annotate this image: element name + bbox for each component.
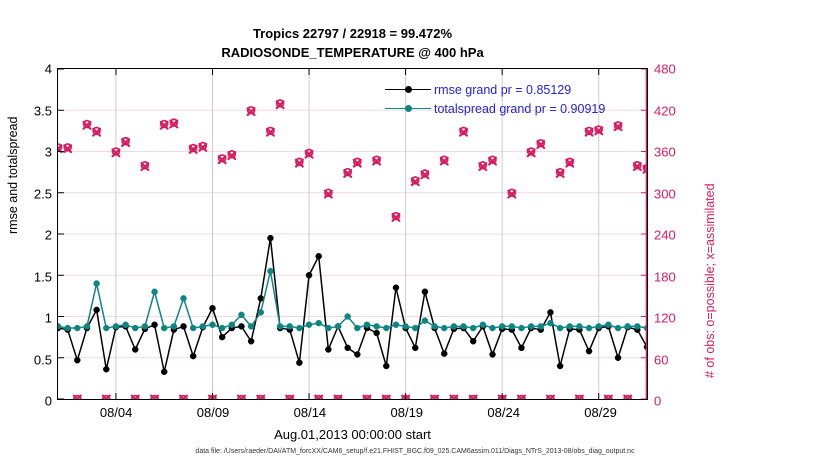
y-axis-right-tick: 480: [654, 62, 676, 77]
y-axis-left-tick: 3: [45, 145, 52, 160]
y-axis-right-tick: 60: [654, 352, 668, 367]
chart-legend: rmse grand pr = 0.85129 totalspread gran…: [385, 80, 605, 118]
x-axis-tick: 08/09: [197, 405, 230, 420]
plot-canvas: [58, 69, 647, 399]
x-axis-tick: 08/29: [584, 405, 617, 420]
y-axis-left-tick: 0.5: [34, 352, 52, 367]
y-axis-right-tick: 360: [654, 145, 676, 160]
y-axis-right-label: # of obs: o=possible; x=assimilated: [703, 183, 717, 378]
legend-label-totalspread: totalspread grand pr = 0.90919: [434, 102, 605, 116]
x-axis-tick: 08/14: [294, 405, 327, 420]
y-axis-right-tick: 0: [654, 394, 661, 409]
y-axis-right-tick: 180: [654, 269, 676, 284]
y-axis-left-tick: 4: [45, 62, 52, 77]
y-axis-left-tick: 3.5: [34, 103, 52, 118]
y-axis-right-tick: 120: [654, 311, 676, 326]
y-axis-right-tick: 420: [654, 103, 676, 118]
figure-root: Tropics 22797 / 22918 = 99.472% RADIOSON…: [0, 0, 830, 470]
legend-item-rmse: rmse grand pr = 0.85129: [385, 80, 605, 99]
legend-label-rmse: rmse grand pr = 0.85129: [434, 83, 571, 97]
chart-title-line-1: Tropics 22797 / 22918 = 99.472%: [57, 24, 648, 43]
x-axis-tick: 08/19: [391, 405, 424, 420]
x-axis-label: Aug.01,2013 00:00:00 start: [57, 427, 648, 442]
x-axis-tick: 08/24: [487, 405, 520, 420]
y-axis-left-label: rmse and totalspread: [6, 117, 20, 234]
legend-swatch-rmse-icon: [385, 84, 431, 96]
legend-item-totalspread: totalspread grand pr = 0.90919: [385, 99, 605, 118]
y-axis-right-tick: 240: [654, 228, 676, 243]
y-axis-left-tick: 2.5: [34, 186, 52, 201]
data-file-note: data file: /Users/raeder/DAI/ATM_forcXX/…: [0, 448, 830, 455]
y-axis-left-tick: 2: [45, 228, 52, 243]
y-axis-right-tick: 300: [654, 186, 676, 201]
chart-title-line-2: RADIOSONDE_TEMPERATURE @ 400 hPa: [57, 43, 648, 62]
y-axis-left-tick: 1: [45, 311, 52, 326]
x-axis-tick: 08/04: [100, 405, 133, 420]
legend-swatch-totalspread-icon: [385, 103, 431, 115]
y-axis-left-tick: 1.5: [34, 269, 52, 284]
y-axis-left-tick: 0: [45, 394, 52, 409]
chart-title: Tropics 22797 / 22918 = 99.472% RADIOSON…: [57, 24, 648, 62]
